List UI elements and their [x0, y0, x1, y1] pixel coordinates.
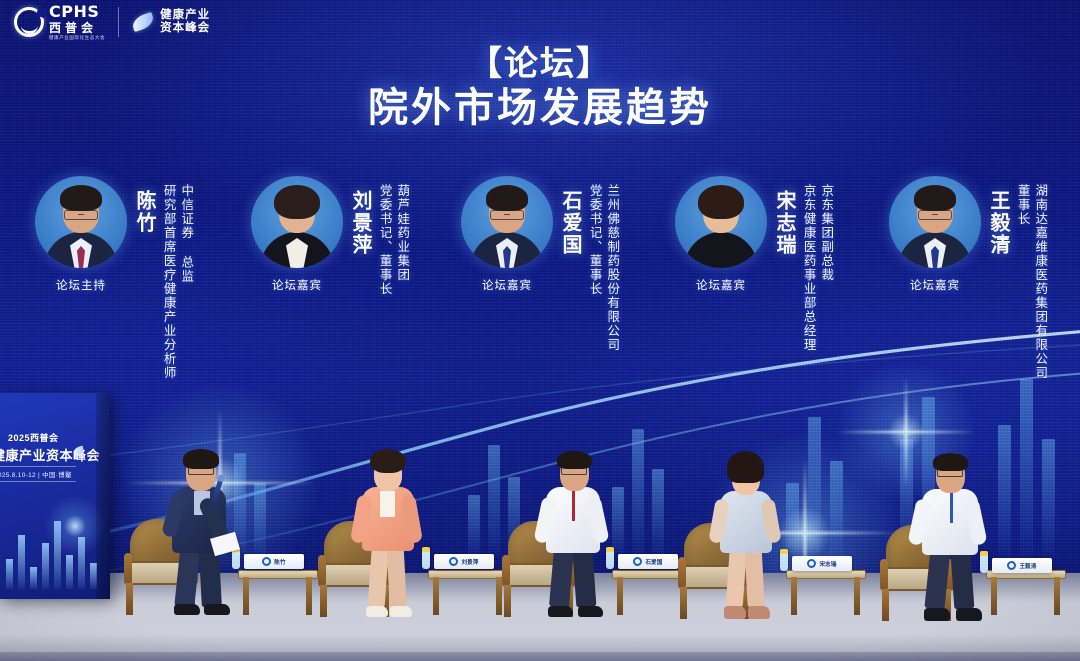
panelist-2-role: 论坛嘉宾 [272, 277, 322, 293]
nameplate-3-text: 石爱国 [645, 558, 662, 566]
panelist-1-titles: 中信证券 总监 研究部首席医疗健康产业分析师 [158, 184, 193, 380]
panelist-card-4: 论坛嘉宾 宋志瑞 京东集团副总裁 京东健康医药事业部总经理 [672, 176, 833, 352]
panelist-4-titles: 京东集团副总裁 京东健康医药事业部总经理 [798, 184, 833, 352]
panelist-1-title-1: 中信证券 总监 [178, 184, 194, 380]
panelist-4-title-1: 京东集团副总裁 [818, 184, 834, 352]
seated-person-3 [524, 437, 639, 617]
podium-event-line: 健康产业资本峰会 [0, 445, 100, 464]
panelist-5-titles: 湖南达嘉维康医药集团有限公司 董事长 [1012, 184, 1047, 380]
panelist-2-avatar [251, 176, 343, 268]
panelist-3-title-1: 兰州佛慈制药股份有限公司 [604, 184, 620, 352]
panelist-2-title-2: 党委书记、董事长 [376, 184, 392, 296]
summit-logo-line1: 健康产业 [160, 9, 210, 22]
seated-person-4 [698, 439, 808, 619]
summit-logo-line2: 资本峰会 [160, 22, 210, 35]
nameplate-2-text: 刘景萍 [461, 558, 478, 566]
panelist-5-title-1: 湖南达嘉维康医药集团有限公司 [1032, 184, 1048, 380]
forum-title-line1: 【论坛】 [0, 44, 1080, 84]
panelist-3-title-2: 党委书记、董事长 [586, 184, 602, 352]
seated-person-2 [340, 437, 450, 617]
panelist-card-3: 论坛嘉宾 石爱国 兰州佛慈制药股份有限公司 党委书记、董事长 [458, 176, 619, 352]
panelist-3-role: 论坛嘉宾 [482, 277, 532, 293]
nameplate-1-text: 陈竹 [274, 558, 285, 566]
cphs-circle-logo-icon [14, 7, 44, 37]
panelist-1-name: 陈竹 [133, 190, 154, 234]
panelist-4-name: 宋志瑞 [773, 190, 794, 256]
panelist-2-titles: 葫芦娃药业集团 党委书记、董事长 [374, 184, 409, 296]
lanyard-1 [572, 491, 575, 521]
panelist-2-name: 刘景萍 [349, 190, 370, 256]
panelist-5-photo-wrap: 论坛嘉宾 [886, 176, 984, 293]
header-logo-bar: CPHS 西普会 健康产业国际化生态大会 健康产业 资本峰会 [14, 4, 210, 41]
conference-stage-screenshot: CPHS 西普会 健康产业国际化生态大会 健康产业 资本峰会 【论坛】 院外市场… [0, 0, 1080, 661]
forum-title-block: 【论坛】 院外市场发展趋势 [0, 44, 1080, 133]
panelist-5-avatar [889, 176, 981, 268]
nameplate-5-text: 王毅清 [1019, 562, 1036, 570]
panelist-2-photo-wrap: 论坛嘉宾 [248, 176, 346, 293]
panelist-5-title-2: 董事长 [1014, 184, 1030, 380]
panelist-card-2: 论坛嘉宾 刘景萍 葫芦娃药业集团 党委书记、董事长 [248, 176, 409, 296]
nameplate-4-text: 宋志瑞 [819, 560, 836, 568]
panelist-4-avatar [675, 176, 767, 268]
panelist-5-role: 论坛嘉宾 [910, 277, 960, 293]
panelist-1-title-2: 研究部首席医疗健康产业分析师 [160, 184, 176, 380]
cphs-logo-cn: 西普会 [49, 22, 105, 34]
podium-year-line: 2025西普会 [8, 431, 59, 444]
panelist-3-photo-wrap: 论坛嘉宾 [458, 176, 556, 293]
panelist-card-5: 论坛嘉宾 王毅清 湖南达嘉维康医药集团有限公司 董事长 [886, 176, 1047, 380]
panelist-4-photo-wrap: 论坛嘉宾 [672, 176, 770, 293]
panelist-3-avatar [461, 176, 553, 268]
logo-divider [118, 7, 119, 37]
cphs-logo-sub: 健康产业国际化生态大会 [49, 36, 105, 41]
panelist-4-role: 论坛嘉宾 [696, 277, 746, 293]
panelist-card-1: 论坛主持 陈竹 中信证券 总监 研究部首席医疗健康产业分析师 [32, 176, 193, 380]
panelist-2-title-1: 葫芦娃药业集团 [394, 184, 410, 296]
nameplate-logo-icon [807, 559, 816, 568]
cphs-logo: CPHS 西普会 健康产业国际化生态大会 [14, 4, 105, 41]
cphs-logo-en: CPHS [49, 4, 105, 20]
panelist-1-photo-wrap: 论坛主持 [32, 176, 130, 293]
health-capital-summit-logo: 健康产业 资本峰会 [132, 9, 210, 35]
podium-date-line: 2025.8.10-12 | 中国·博鳌 [0, 466, 76, 482]
panelist-1-role: 论坛主持 [56, 277, 106, 293]
seated-person-1-moderator [150, 440, 270, 615]
panelist-5-name: 王毅清 [987, 190, 1008, 256]
leaf-icon [130, 12, 155, 32]
panelist-3-name: 石爱国 [559, 190, 580, 256]
lanyard-2 [950, 491, 953, 523]
forum-title-line2: 院外市场发展趋势 [0, 84, 1080, 133]
panelist-3-titles: 兰州佛慈制药股份有限公司 党委书记、董事长 [584, 184, 619, 352]
health-capital-summit-text: 健康产业 资本峰会 [160, 9, 210, 35]
stage-front-edge [0, 652, 1080, 661]
panelist-1-avatar [35, 176, 127, 268]
panelist-card-row: 论坛主持 陈竹 中信证券 总监 研究部首席医疗健康产业分析师 论坛嘉宾 刘景萍 … [0, 176, 1080, 426]
seated-person-5 [900, 439, 1018, 621]
nameplate-logo-icon [449, 557, 458, 566]
panelist-4-title-2: 京东健康医药事业部总经理 [800, 184, 816, 352]
cphs-logo-text: CPHS 西普会 健康产业国际化生态大会 [49, 4, 105, 41]
